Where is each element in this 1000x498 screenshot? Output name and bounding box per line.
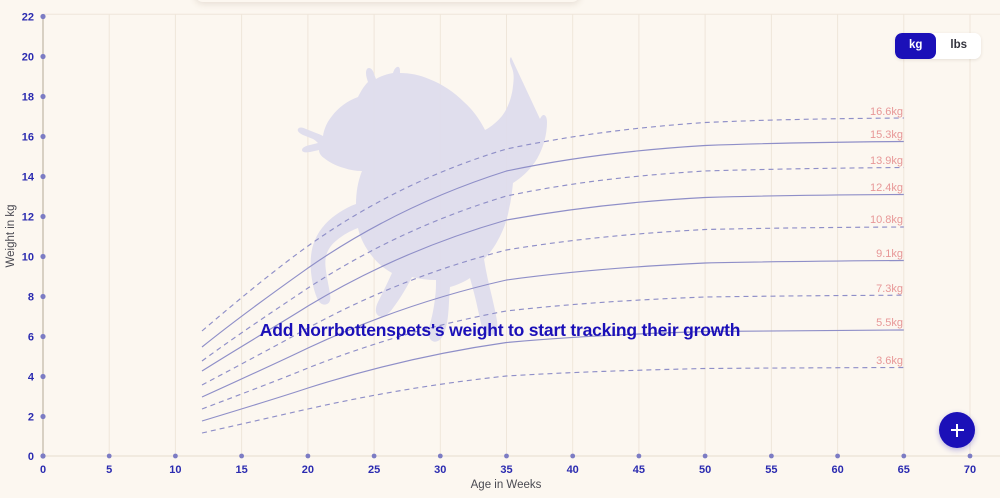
band-label: 3.6kg (876, 355, 903, 367)
unit-toggle[interactable]: kg lbs (895, 33, 981, 59)
curve-12-4kg (202, 195, 904, 372)
unit-toggle-lbs[interactable]: lbs (936, 33, 981, 59)
curve-15-3kg (202, 142, 904, 348)
x-tick-label: 10 (169, 464, 181, 476)
y-tick-label: 8 (28, 292, 34, 304)
y-tick-label: 0 (28, 451, 34, 463)
band-label: 12.4kg (870, 182, 903, 194)
y-axis-ticks: 22 20 18 16 14 12 10 8 6 4 2 (22, 12, 46, 464)
vertical-gridlines (43, 14, 970, 456)
percentile-curves (202, 118, 904, 433)
curve-13-9kg (202, 168, 904, 362)
unit-toggle-kg[interactable]: kg (895, 33, 936, 59)
y-tick-label: 6 (28, 332, 34, 344)
x-tick-label: 25 (368, 464, 380, 476)
plus-icon (951, 424, 964, 437)
y-tick-label: 10 (22, 252, 34, 264)
x-tick-label: 20 (302, 464, 314, 476)
band-label: 9.1kg (876, 248, 903, 260)
x-tick-label: 35 (500, 464, 512, 476)
band-label: 7.3kg (876, 283, 903, 295)
y-tick-label: 16 (22, 132, 34, 144)
x-tick-label: 0 (40, 464, 46, 476)
x-tick-label: 65 (898, 464, 910, 476)
growth-chart-screen: 16.6kg 15.3kg 13.9kg 12.4kg 10.8kg 9.1kg… (0, 0, 1000, 498)
add-weight-button[interactable] (939, 412, 975, 448)
band-label: 15.3kg (870, 129, 903, 141)
band-label: 13.9kg (870, 155, 903, 167)
x-tick-label: 60 (831, 464, 843, 476)
y-tick-label: 20 (22, 52, 34, 64)
x-tick-label: 50 (699, 464, 711, 476)
x-tick-label: 15 (235, 464, 247, 476)
band-end-labels: 16.6kg 15.3kg 13.9kg 12.4kg 10.8kg 9.1kg… (870, 106, 903, 367)
dog-silhouette-icon (298, 57, 547, 342)
x-tick-label: 55 (765, 464, 777, 476)
y-tick-label: 18 (22, 92, 34, 104)
band-label: 16.6kg (870, 106, 903, 118)
chart-svg: 16.6kg 15.3kg 13.9kg 12.4kg 10.8kg 9.1kg… (0, 0, 1000, 498)
curve-3-6kg (202, 368, 904, 434)
x-tick-label: 5 (106, 464, 112, 476)
curve-7-3kg (202, 295, 904, 409)
y-tick-label: 14 (22, 172, 35, 184)
x-tick-label: 30 (434, 464, 446, 476)
y-tick-label: 12 (22, 212, 34, 224)
y-tick-label: 4 (28, 372, 35, 384)
x-tick-label: 70 (964, 464, 976, 476)
band-label: 5.5kg (876, 317, 903, 329)
x-tick-label: 45 (633, 464, 645, 476)
y-tick-label: 22 (22, 12, 34, 24)
y-tick-label: 2 (28, 412, 34, 424)
growth-chart: 16.6kg 15.3kg 13.9kg 12.4kg 10.8kg 9.1kg… (0, 0, 1000, 498)
x-axis-ticks: 0 5 10 15 20 25 30 35 40 45 50 (40, 454, 976, 476)
x-axis-title: Age in Weeks (471, 479, 542, 491)
x-tick-label: 40 (567, 464, 579, 476)
band-label: 10.8kg (870, 214, 903, 226)
y-axis-title: Weight in kg (5, 204, 17, 267)
curve-5-5kg (202, 330, 904, 421)
